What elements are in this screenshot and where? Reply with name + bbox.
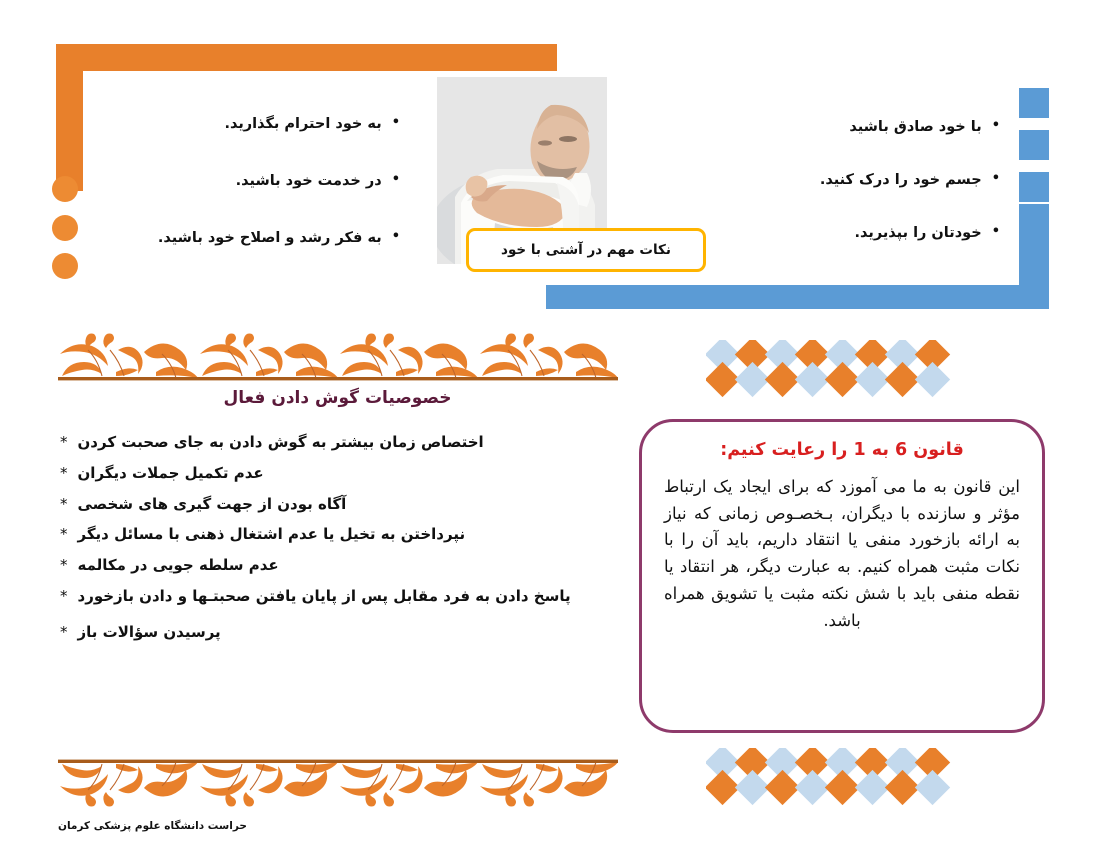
asterisk-bullet-icon: * [60,524,68,546]
list-item: پرسیدن سؤالات باز * [60,622,615,644]
diamond-svg [706,340,1006,402]
blue-square-decoration [1019,172,1049,202]
bullet-icon: • [392,209,400,265]
floral-ornament-bottom [58,752,618,808]
diamond-pattern-top [706,340,1006,402]
asterisk-bullet-icon: * [60,555,68,577]
asterisk-bullet-icon: * [60,432,68,454]
orange-frame-vertical-bar [56,44,83,191]
list-item-label: به خود احترام بگذارید. [224,116,381,132]
top-right-bullet-list: •با خود صادق باشید •جسم خود را درک کنید.… [770,100,1000,259]
ornament-svg [58,752,618,808]
top-left-bullet-list: •به خود احترام بگذارید. •در خدمت خود باش… [100,95,400,266]
blue-square-decoration [1019,130,1049,160]
bullet-icon: • [992,100,1000,152]
list-item-label: عدم سلطه جویی در مکالمه [78,555,279,577]
list-item: •به فکر رشد و اصلاح خود باشید. [100,209,400,266]
list-item-label: عدم تکمیل جملات دیگران [78,463,264,485]
list-item-label: خودتان را بپذیرید. [854,225,981,241]
list-item: •خودتان را بپذیرید. [770,206,1000,259]
diamond-pattern-bottom [706,748,1006,810]
list-item-label: اختصاص زمان بیشتر به گوش دادن به جای صحب… [78,432,484,454]
asterisk-bullet-icon: * [60,463,68,485]
list-item: •در خدمت خود باشید. [100,152,400,209]
list-item: •به خود احترام بگذارید. [100,95,400,152]
list-item: نپرداختن به تخیل یا عدم اشتغال ذهنی با م… [60,524,615,546]
list-item: آگاه بودن از جهت گیری های شخصی * [60,494,615,516]
ornament-svg [58,332,618,388]
list-item-label: آگاه بودن از جهت گیری های شخصی [78,494,347,516]
footer-text: حراست دانشگاه علوم پزشکی کرمان [58,820,247,832]
floral-ornament-top [58,332,618,388]
orange-dot-decoration [52,176,78,202]
list-item-label: پرسیدن سؤالات باز [78,622,221,644]
photo-caption-text: نکات مهم در آشتی با خود [501,242,671,258]
active-listening-list: اختصاص زمان بیشتر به گوش دادن به جای صحب… [60,432,615,652]
list-item-label: پاسخ دادن به فرد مقابل پس از پایان یافتن… [78,586,571,608]
list-item: اختصاص زمان بیشتر به گوش دادن به جای صحب… [60,432,615,454]
blue-horizontal-bar [546,285,1049,309]
blue-square-decoration [1019,88,1049,118]
rule-box-title: قانون 6 به 1 را رعایت کنیم: [664,440,1020,460]
bullet-icon: • [992,206,1000,258]
diamond-svg [706,748,1006,810]
bullet-icon: • [992,153,1000,205]
rule-box-body: این قانون به ما می آموزد که برای ایجاد ی… [664,474,1020,634]
list-item-label: در خدمت خود باشید. [236,173,382,189]
bullet-icon: • [392,95,400,151]
asterisk-bullet-icon: * [60,622,68,644]
list-item-label: به فکر رشد و اصلاح خود باشید. [158,230,382,246]
list-item-label: جسم خود را درک کنید. [820,172,982,188]
left-panel-heading: خصوصیات گوش دادن فعال [60,388,615,408]
list-item: پاسخ دادن به فرد مقابل پس از پایان یافتن… [60,586,615,608]
orange-dot-decoration [52,215,78,241]
photo-caption-box: نکات مهم در آشتی با خود [466,228,706,272]
six-to-one-rule-box: قانون 6 به 1 را رعایت کنیم: این قانون به… [639,419,1045,733]
asterisk-bullet-icon: * [60,586,68,608]
list-item: •جسم خود را درک کنید. [770,153,1000,206]
asterisk-bullet-icon: * [60,494,68,516]
list-item: عدم تکمیل جملات دیگران * [60,463,615,485]
orange-frame-horizontal-bar [56,44,557,71]
list-item-label: با خود صادق باشید [849,119,981,135]
orange-dot-decoration [52,253,78,279]
list-item: •با خود صادق باشید [770,100,1000,153]
list-item: عدم سلطه جویی در مکالمه * [60,555,615,577]
bullet-icon: • [392,152,400,208]
list-item-label: نپرداختن به تخیل یا عدم اشتغال ذهنی با م… [78,524,466,546]
